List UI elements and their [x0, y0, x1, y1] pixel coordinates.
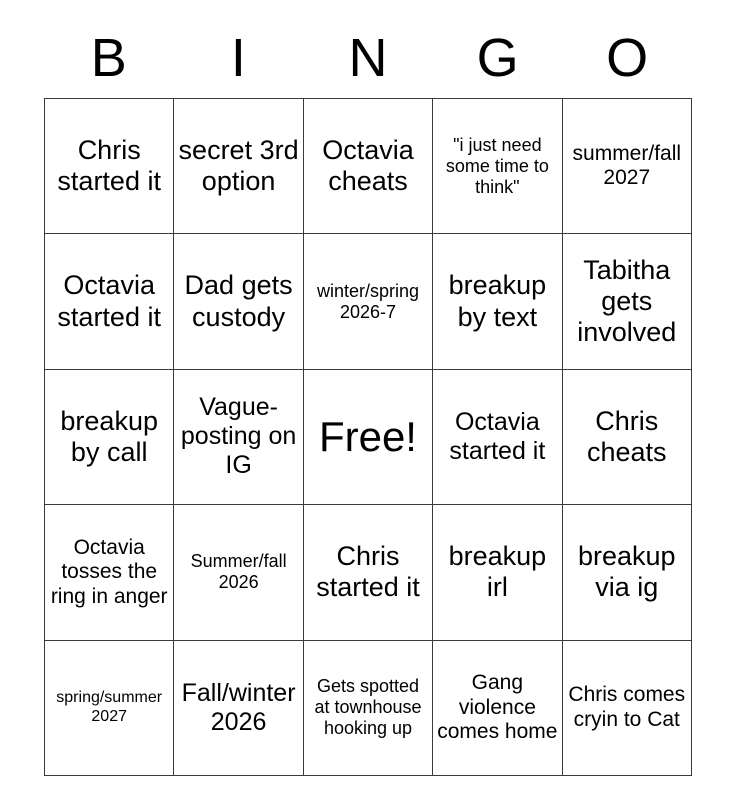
bingo-cell[interactable]: breakup irl [433, 505, 562, 640]
bingo-cell[interactable]: spring/summer 2027 [45, 640, 174, 775]
bingo-cell-label: Chris comes cryin to Cat [567, 683, 687, 732]
bingo-cell[interactable]: "i just need some time to think" [433, 99, 562, 234]
bingo-header-letter-b: B [44, 31, 174, 85]
bingo-cell[interactable]: Summer/fall 2026 [174, 505, 303, 640]
bingo-cell-label: Octavia cheats [308, 135, 428, 198]
bingo-cell-label: Gang violence comes home [437, 671, 557, 744]
bingo-cell[interactable]: breakup by call [45, 369, 174, 504]
bingo-cell-label: Octavia tosses the ring in anger [49, 536, 169, 609]
bingo-cell-label: Octavia started it [49, 270, 169, 333]
bingo-cell-label: Summer/fall 2026 [178, 551, 298, 593]
bingo-cell-label: Vague-posting on IG [178, 393, 298, 480]
bingo-cell[interactable]: Tabitha gets involved [562, 234, 691, 369]
bingo-cell-label: "i just need some time to think" [437, 135, 557, 198]
bingo-cell[interactable]: Chris started it [45, 99, 174, 234]
bingo-cell[interactable]: winter/spring 2026-7 [303, 234, 432, 369]
bingo-cell-label: breakup by text [437, 270, 557, 333]
bingo-row: spring/summer 2027 Fall/winter 2026 Gets… [45, 640, 692, 775]
bingo-cell[interactable]: Chris cheats [562, 369, 691, 504]
bingo-cell[interactable]: summer/fall 2027 [562, 99, 691, 234]
bingo-header: B I N G O [44, 18, 692, 98]
bingo-cell[interactable]: breakup by text [433, 234, 562, 369]
bingo-cell-label: Gets spotted at townhouse hooking up [308, 676, 428, 739]
bingo-cell-label: secret 3rd option [178, 135, 298, 198]
bingo-grid: Chris started it secret 3rd option Octav… [44, 98, 692, 776]
bingo-cell-label: Chris started it [49, 135, 169, 198]
bingo-cell[interactable]: Chris started it [303, 505, 432, 640]
bingo-cell-label: spring/summer 2027 [49, 689, 169, 726]
bingo-cell-label: breakup by call [49, 406, 169, 469]
bingo-cell[interactable]: Octavia tosses the ring in anger [45, 505, 174, 640]
bingo-cell[interactable]: Chris comes cryin to Cat [562, 640, 691, 775]
bingo-cell[interactable]: Octavia started it [45, 234, 174, 369]
bingo-cell-label: breakup via ig [567, 541, 687, 604]
bingo-cell[interactable]: Gets spotted at townhouse hooking up [303, 640, 432, 775]
bingo-row: Octavia started it Dad gets custody wint… [45, 234, 692, 369]
bingo-cell[interactable]: Octavia cheats [303, 99, 432, 234]
bingo-cell-label: Octavia started it [437, 408, 557, 466]
bingo-cell[interactable]: Vague-posting on IG [174, 369, 303, 504]
bingo-cell[interactable]: breakup via ig [562, 505, 691, 640]
bingo-card: B I N G O Chris started it secret 3rd op… [44, 18, 692, 776]
bingo-cell-label: Chris started it [308, 541, 428, 604]
bingo-cell-label: Dad gets custody [178, 270, 298, 333]
bingo-header-letter-i: I [174, 31, 304, 85]
bingo-row: breakup by call Vague-posting on IG Free… [45, 369, 692, 504]
bingo-cell-label: Chris cheats [567, 406, 687, 469]
bingo-cell-label: Free! [308, 413, 428, 462]
bingo-row: Chris started it secret 3rd option Octav… [45, 99, 692, 234]
bingo-cell-label: breakup irl [437, 541, 557, 604]
bingo-header-letter-o: O [562, 31, 692, 85]
bingo-cell[interactable]: Dad gets custody [174, 234, 303, 369]
bingo-cell[interactable]: Fall/winter 2026 [174, 640, 303, 775]
bingo-cell-label: Tabitha gets involved [567, 255, 687, 349]
bingo-cell-label: summer/fall 2027 [567, 142, 687, 191]
bingo-cell[interactable]: secret 3rd option [174, 99, 303, 234]
bingo-cell[interactable]: Gang violence comes home [433, 640, 562, 775]
bingo-header-letter-g: G [433, 31, 563, 85]
bingo-cell-free[interactable]: Free! [303, 369, 432, 504]
bingo-cell-label: winter/spring 2026-7 [308, 281, 428, 323]
bingo-row: Octavia tosses the ring in anger Summer/… [45, 505, 692, 640]
bingo-header-letter-n: N [303, 31, 433, 85]
bingo-cell[interactable]: Octavia started it [433, 369, 562, 504]
bingo-cell-label: Fall/winter 2026 [178, 679, 298, 737]
